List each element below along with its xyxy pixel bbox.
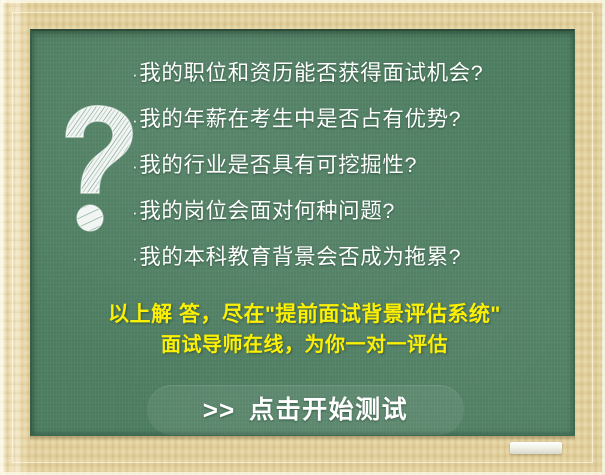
promo-block: 以上解 答，尽在"提前面试背景评估系统" 面试导师在线，为你一对一评估 xyxy=(32,299,575,361)
list-item: · 我的本科教育背景会否成为拖累? xyxy=(132,235,572,281)
question-text: 我的年薪在考生中是否占有优势? xyxy=(139,97,461,142)
question-text: 我的行业是否具有可挖掘性? xyxy=(139,143,417,188)
blackboard-frame: · 我的职位和资历能否获得面试机会? · 我的年薪在考生中是否占有优势? · 我… xyxy=(0,0,605,475)
chalk-stick[interactable] xyxy=(510,442,562,454)
bullet-icon: · xyxy=(132,144,138,189)
question-text: 我的岗位会面对何种问题? xyxy=(139,189,395,234)
start-test-label: 点击开始测试 xyxy=(249,398,408,423)
question-list: · 我的职位和资历能否获得面试机会? · 我的年薪在考生中是否占有优势? · 我… xyxy=(132,51,572,281)
bullet-icon: · xyxy=(132,98,138,143)
start-test-button[interactable]: >> 点击开始测试 xyxy=(147,385,464,435)
bullet-icon: · xyxy=(132,52,138,97)
list-item: · 我的岗位会面对何种问题? xyxy=(132,189,572,235)
promo-line-2: 面试导师在线，为你一对一评估 xyxy=(32,330,575,361)
list-item: · 我的行业是否具有可挖掘性? xyxy=(132,143,572,189)
list-item: · 我的年薪在考生中是否占有优势? xyxy=(132,97,572,143)
question-text: 我的本科教育背景会否成为拖累? xyxy=(139,235,461,280)
board-ledge-shadow xyxy=(30,436,575,441)
list-item: · 我的职位和资历能否获得面试机会? xyxy=(132,51,572,97)
bullet-icon: · xyxy=(132,236,138,281)
bullet-icon: · xyxy=(132,190,138,235)
chevron-right-double-icon: >> xyxy=(203,397,235,423)
question-text: 我的职位和资历能否获得面试机会? xyxy=(139,51,483,96)
chalkboard-surface: · 我的职位和资历能否获得面试机会? · 我的年薪在考生中是否占有优势? · 我… xyxy=(30,29,575,436)
promo-line-1: 以上解 答，尽在"提前面试背景评估系统" xyxy=(32,299,575,330)
question-mark-icon xyxy=(50,99,142,239)
